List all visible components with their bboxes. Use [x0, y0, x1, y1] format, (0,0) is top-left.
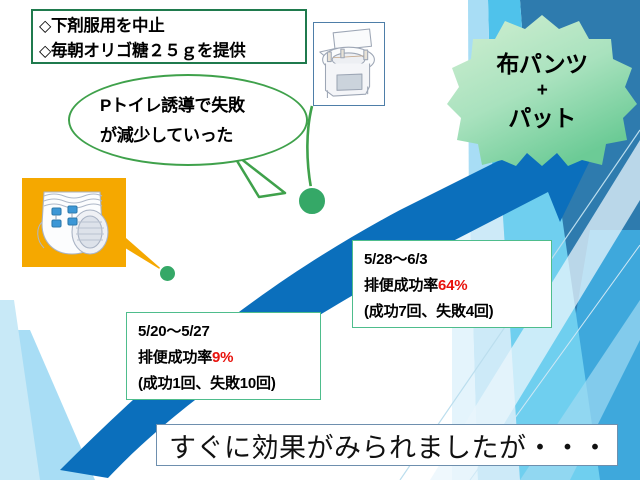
marker-week2[interactable] [297, 186, 327, 216]
week2-rate-label: 排便成功率 [364, 277, 438, 294]
week2-detail: (成功7回、失敗4回) [364, 299, 542, 325]
measures-line-1-text: 下剤服用を中止 [51, 17, 164, 35]
diamond-bullet-icon: ◇ [39, 18, 51, 35]
week1-period: 5/20〜5/27 [138, 319, 311, 345]
week2-rate-line: 排便成功率64% [364, 273, 542, 299]
starburst-line2: + [537, 79, 548, 103]
marker-week1[interactable] [158, 264, 177, 283]
measures-line-2-text: 毎朝オリゴ糖２５ｇを提供 [51, 42, 245, 60]
speech-bubble: Pトイレ誘導で失敗 が減少していった [68, 74, 308, 166]
cloth-pants-starburst: 布パンツ + パット [447, 13, 637, 168]
bottom-caption: すぐに効果がみられましたが・・・ [156, 424, 618, 466]
measures-box: ◇下剤服用を中止 ◇毎朝オリゴ糖２５ｇを提供 [31, 9, 307, 64]
portable-toilet-photo [313, 22, 385, 106]
starburst-line1: 布パンツ [496, 49, 587, 79]
slide-canvas: 布パンツ + パット ◇下剤服用を中止 ◇毎朝オリゴ糖２５ｇを提供 Pトイレ誘導… [0, 0, 640, 480]
measures-line-1: ◇下剤服用を中止 [39, 14, 300, 39]
bottom-caption-text: すぐに効果がみられましたが・・・ [169, 426, 609, 465]
data-box-week1: 5/20〜5/27 排便成功率9% (成功1回、失敗10回) [126, 312, 321, 400]
speech-bubble-line2: が減少していった [100, 121, 290, 151]
measures-line-2: ◇毎朝オリゴ糖２５ｇを提供 [39, 39, 300, 64]
diamond-bullet-icon: ◇ [39, 43, 51, 60]
speech-bubble-line1: Pトイレ誘導で失敗 [100, 91, 290, 121]
week2-period: 5/28〜6/3 [364, 247, 542, 273]
week1-rate-value: 9% [212, 349, 233, 366]
week1-detail: (成功1回、失敗10回) [138, 371, 311, 397]
week1-rate-label: 排便成功率 [138, 349, 212, 366]
portable-commode-chair-icon [314, 23, 383, 104]
week1-rate-line: 排便成功率9% [138, 345, 311, 371]
starburst-line3: パット [508, 103, 576, 133]
diaper-photo [22, 178, 126, 267]
week2-rate-value: 64% [438, 277, 467, 294]
data-box-week2: 5/28〜6/3 排便成功率64% (成功7回、失敗4回) [352, 240, 552, 328]
adult-diaper-icon [22, 178, 126, 267]
speech-bubble-text: Pトイレ誘導で失敗 が減少していった [100, 91, 290, 151]
starburst-text: 布パンツ + パット [447, 13, 637, 168]
